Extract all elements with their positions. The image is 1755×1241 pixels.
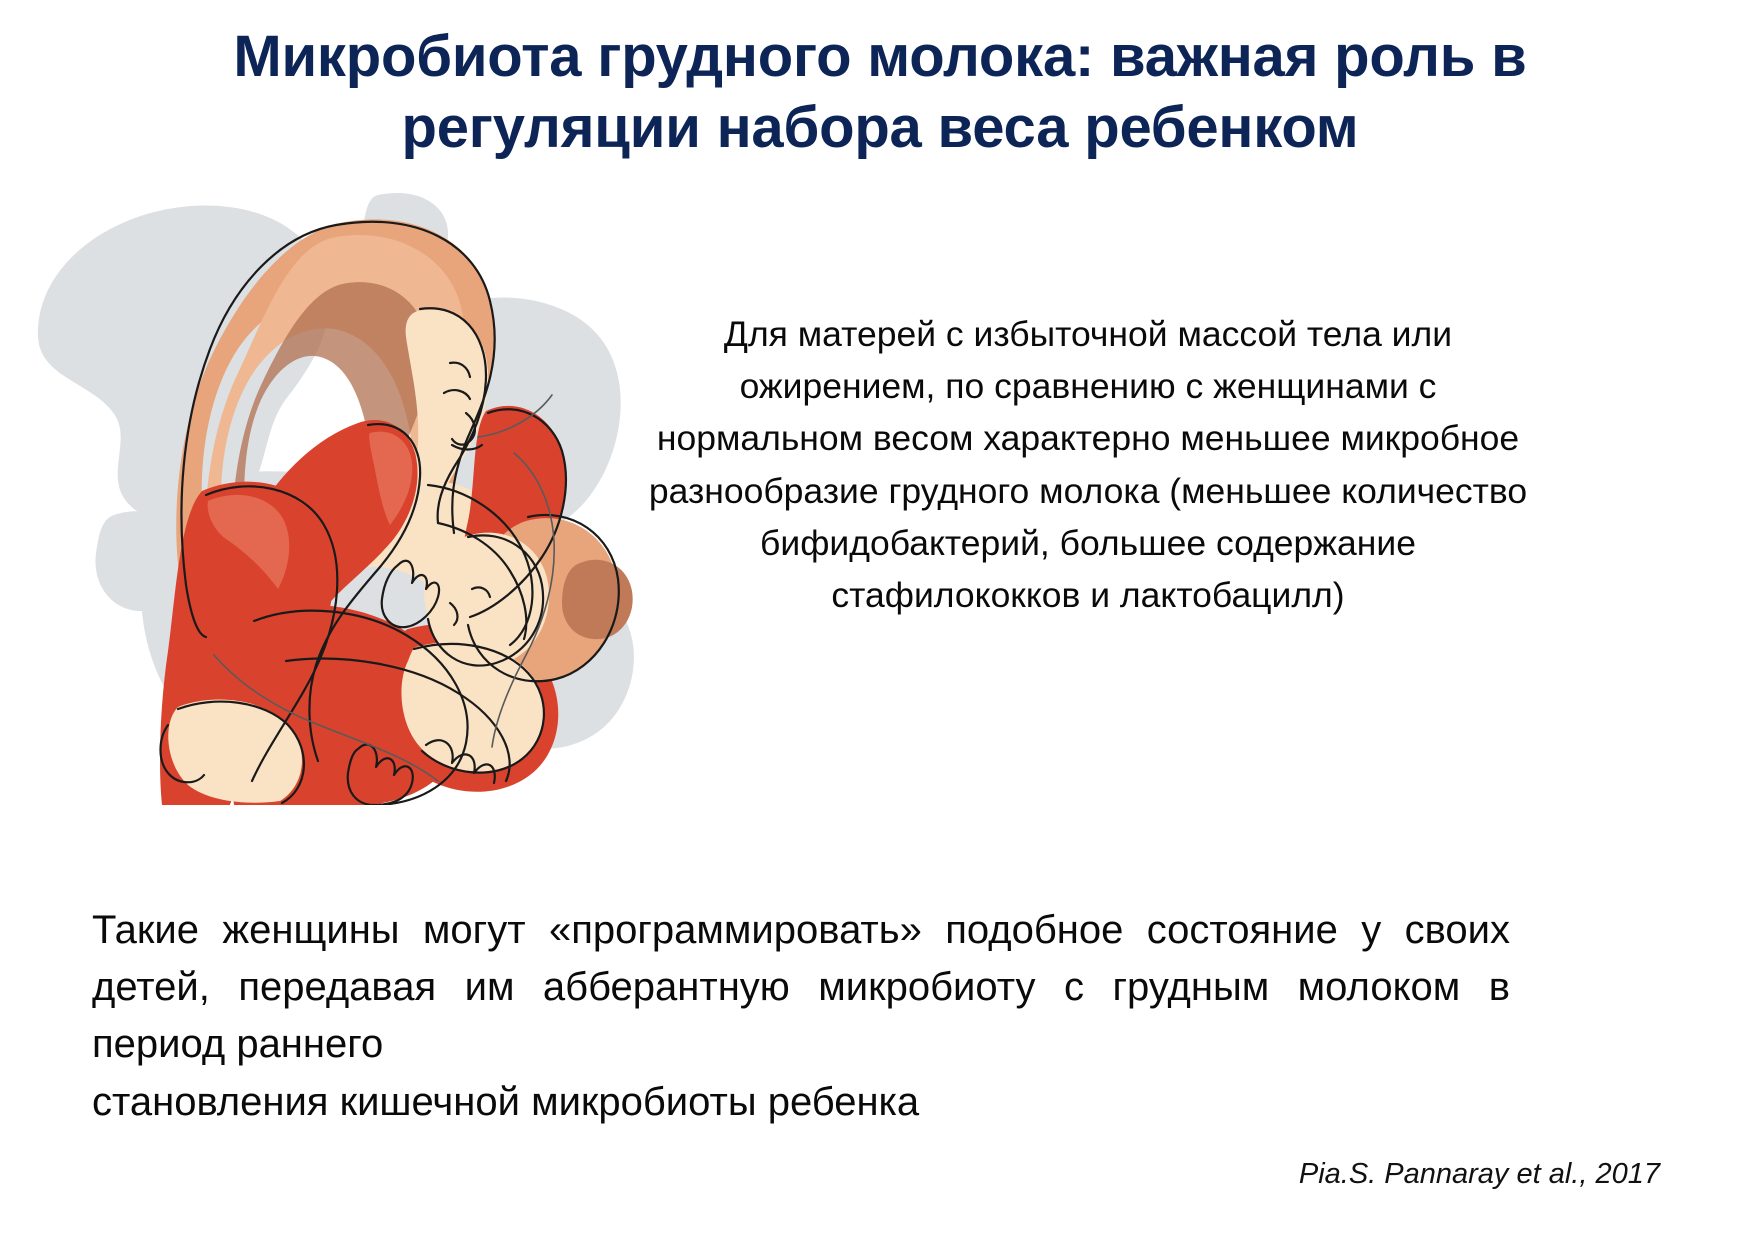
illustration-container <box>18 185 658 805</box>
baby-head-back-shade <box>562 560 633 639</box>
page-title: Микробиота грудного молока: важная роль … <box>110 22 1650 164</box>
source-citation: Pia.S. Pannaray et al., 2017 <box>600 1158 1660 1191</box>
bottom-paragraph-main-text: Такие женщины могут «программировать» по… <box>92 908 1510 1066</box>
right-description-paragraph: Для матерей с избыточной массой тела или… <box>648 308 1528 621</box>
slide-canvas: Микробиота грудного молока: важная роль … <box>0 0 1755 1241</box>
bottom-conclusion-paragraph: Такие женщины могут «программировать» по… <box>92 902 1510 1131</box>
breastfeeding-mother-and-baby-illustration <box>18 185 658 805</box>
bottom-paragraph-last-line: становления кишечной микробиоты ребенка <box>92 1074 1510 1131</box>
